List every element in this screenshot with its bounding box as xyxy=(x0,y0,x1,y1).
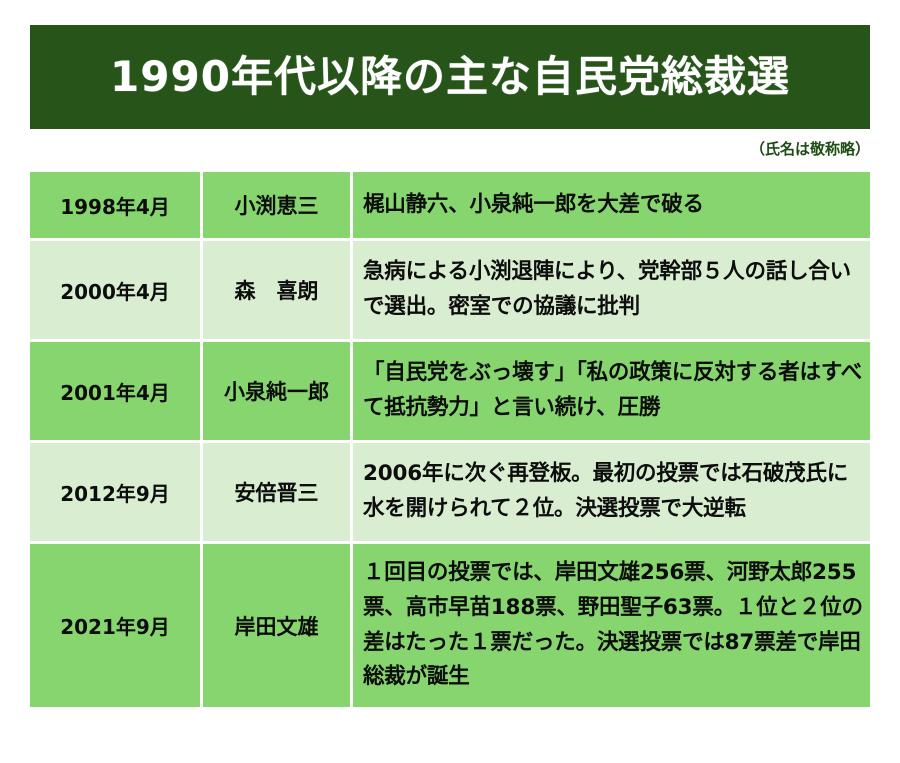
page-title: 1990年代以降の主な自民党総裁選 xyxy=(110,56,790,98)
table-cell-description: 2006年に次ぐ再登板。最初の投票では石破茂氏に水を開けられて２位。決選投票で大… xyxy=(353,443,870,541)
table-cell-name: 岸田文雄 xyxy=(203,544,350,707)
table-row: 2012年9月 安倍晋三 2006年に次ぐ再登板。最初の投票では石破茂氏に水を開… xyxy=(30,443,870,541)
table-cell-name: 森 喜朗 xyxy=(203,241,350,339)
title-banner: 1990年代以降の主な自民党総裁選 xyxy=(30,25,870,129)
table-cell-date: 2000年4月 xyxy=(30,241,200,339)
table-cell-description: 梶山静六、小泉純一郎を大差で破る xyxy=(353,172,870,238)
table-row: 1998年4月 小渕恵三 梶山静六、小泉純一郎を大差で破る xyxy=(30,172,870,238)
table-cell-date: 1998年4月 xyxy=(30,172,200,238)
table-cell-description: 「自民党をぶっ壊す」「私の政策に反対する者はすべて抵抗勢力」と言い続け、圧勝 xyxy=(353,342,870,440)
elections-table: 1998年4月 小渕恵三 梶山静六、小泉純一郎を大差で破る 2000年4月 森 … xyxy=(30,172,870,707)
table-cell-date: 2001年4月 xyxy=(30,342,200,440)
table-cell-name: 安倍晋三 xyxy=(203,443,350,541)
table-cell-date: 2021年9月 xyxy=(30,544,200,707)
table-cell-description: １回目の投票では、岸田文雄256票、河野太郎255票、高市早苗188票、野田聖子… xyxy=(353,544,870,707)
table-row: 2021年9月 岸田文雄 １回目の投票では、岸田文雄256票、河野太郎255票、… xyxy=(30,544,870,707)
table-row: 2000年4月 森 喜朗 急病による小渕退陣により、党幹部５人の話し合いで選出。… xyxy=(30,241,870,339)
table-cell-name: 小渕恵三 xyxy=(203,172,350,238)
table-cell-date: 2012年9月 xyxy=(30,443,200,541)
table-cell-description: 急病による小渕退陣により、党幹部５人の話し合いで選出。密室での協議に批判 xyxy=(353,241,870,339)
infographic-page: 1990年代以降の主な自民党総裁選 （氏名は敬称略） 1998年4月 小渕恵三 … xyxy=(0,0,900,763)
table-row: 2001年4月 小泉純一郎 「自民党をぶっ壊す」「私の政策に反対する者はすべて抵… xyxy=(30,342,870,440)
table-cell-name: 小泉純一郎 xyxy=(203,342,350,440)
note-row: （氏名は敬称略） xyxy=(30,134,870,164)
honorific-note: （氏名は敬称略） xyxy=(750,142,870,157)
